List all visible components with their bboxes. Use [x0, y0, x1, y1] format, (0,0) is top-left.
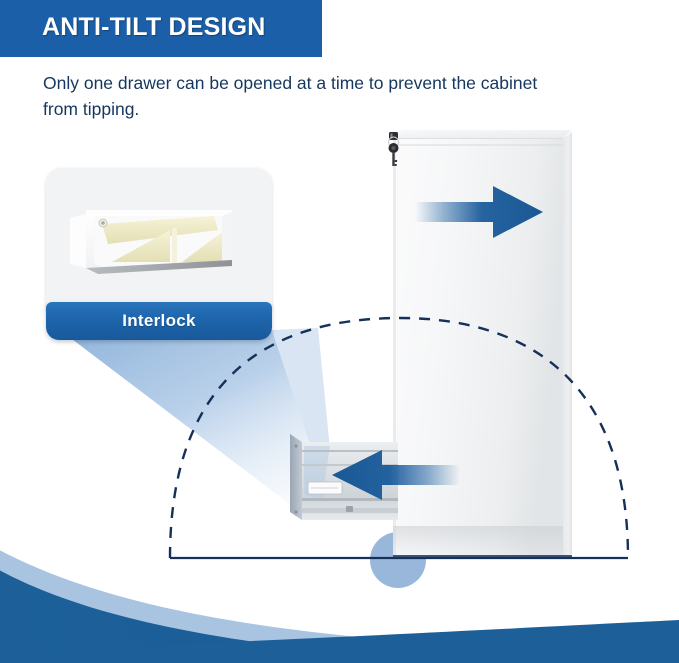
- interlock-part-illustration: [46, 168, 272, 316]
- key-shaft: [392, 152, 394, 166]
- interlock-divider: [172, 228, 177, 264]
- subtitle-text: Only one drawer can be opened at a time …: [43, 70, 563, 122]
- arrow-right-shape: [415, 186, 543, 238]
- interlock-callout-card[interactable]: Interlock: [46, 168, 272, 340]
- cabinet-side-panel: [563, 132, 572, 558]
- interlock-left-tab: [70, 214, 86, 268]
- interlock-right-wall: [222, 212, 232, 264]
- lock-barrel: [389, 132, 398, 140]
- page-title: ANTI-TILT DESIGN: [42, 13, 266, 42]
- cabinet-floor-shade: [393, 526, 563, 558]
- swoosh-right-fill: [0, 620, 679, 663]
- arrow-left-shape: [332, 450, 460, 500]
- drawer-screw-bottom: [294, 510, 297, 513]
- swoosh-deep-fill: [0, 565, 679, 663]
- infographic-canvas: ANTI-TILT DESIGN Only one drawer can be …: [0, 0, 679, 663]
- drawer-handle-notch: [346, 506, 353, 512]
- key-tooth-1: [395, 160, 397, 162]
- cabinet-top: [393, 130, 572, 138]
- cabinet-base-line: [393, 555, 572, 559]
- lock-icon: [383, 130, 405, 174]
- right-pointing-arrow: [415, 182, 545, 242]
- key-head-hole: [392, 146, 396, 150]
- interlock-screw-center: [101, 221, 105, 225]
- swoosh-light-band: [0, 545, 679, 663]
- interlock-label-bar: Interlock: [46, 302, 272, 340]
- key-tooth-2: [395, 164, 397, 166]
- interlock-photo: [46, 168, 272, 316]
- header-banner: ANTI-TILT DESIGN: [0, 0, 322, 57]
- interlock-label-text: Interlock: [46, 302, 272, 340]
- left-pointing-arrow: [330, 448, 460, 502]
- drawer-screw-top: [294, 444, 297, 447]
